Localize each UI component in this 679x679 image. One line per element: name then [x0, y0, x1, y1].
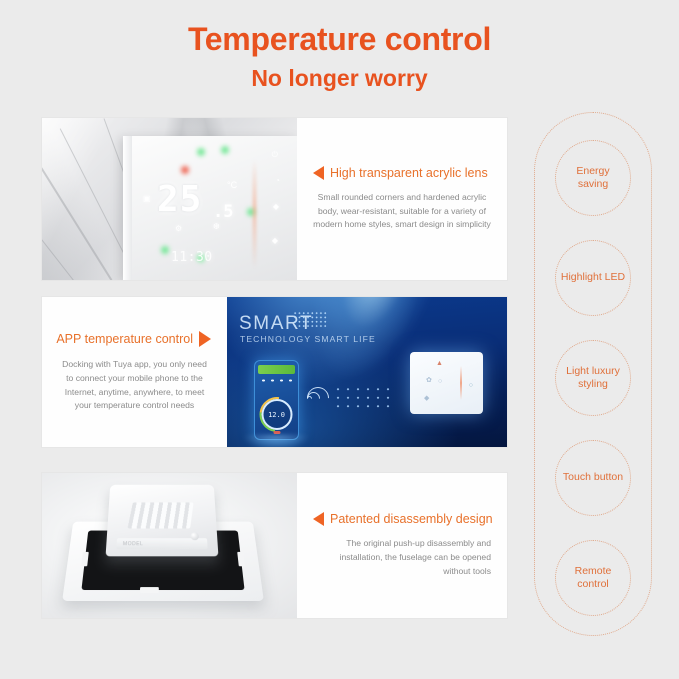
page-header: Temperature control No longer worry	[0, 0, 679, 91]
thermostat-device: ▣ ⚙ ❆ ⏻ ◔ ◆ ◆ 25 .5 °C 11:30	[123, 136, 297, 280]
phone-app-icons	[259, 377, 294, 384]
feature-body: Docking with Tuya app, you only need to …	[58, 358, 211, 414]
sidebar-feature-highlight-led[interactable]: Highlight LED	[555, 240, 631, 316]
frame-notch	[140, 587, 159, 593]
thermostat-screen: ▣ ⚙ ❆ ⏻ ◔ ◆ ◆ 25 .5 °C 11:30	[135, 142, 290, 274]
module-heat-fins	[127, 502, 193, 528]
heating-strip-glow	[253, 160, 256, 268]
feature-panel-disassembly: MODEL Patented disassembly design The or…	[42, 473, 507, 618]
feature-text-disassembly: Patented disassembly design The original…	[297, 473, 507, 618]
banner-dot-pattern	[293, 311, 327, 327]
wifi-icon: ◔	[275, 176, 280, 185]
drop-icon: ◆	[424, 394, 429, 402]
led-indicator-green	[161, 246, 169, 254]
feature-sidebar: Energy saving Highlight LED Light luxury…	[534, 112, 652, 636]
sidebar-feature-label: Touch button	[559, 471, 627, 484]
unit-accent-strip	[460, 366, 462, 400]
feature-heading: APP temperature control	[56, 332, 193, 346]
led-indicator-red	[181, 166, 189, 174]
mode-icon: ▣	[143, 194, 151, 203]
triangle-left-icon	[313, 166, 324, 180]
sidebar-feature-energy-saving[interactable]: Energy saving	[555, 140, 631, 216]
feature-heading-row: Patented disassembly design	[313, 512, 491, 526]
sidebar-feature-label: Energy saving	[556, 165, 630, 192]
banner-subtitle: TECHNOLOGY SMART LIFE	[240, 334, 376, 344]
internal-module: MODEL	[106, 485, 219, 557]
heart-icon: ◆	[272, 236, 278, 245]
fan-icon: ❆	[213, 222, 220, 231]
page-subtitle: No longer worry	[0, 66, 679, 91]
temperature-value: 25	[157, 182, 202, 218]
feature-panel-app-control: APP temperature control Docking with Tuy…	[42, 297, 507, 447]
wifi-signal-icon	[307, 385, 327, 411]
leaf-icon: ✿	[426, 376, 432, 384]
feature-heading: High transparent acrylic lens	[330, 166, 488, 180]
temperature-unit: °C	[227, 180, 237, 190]
page-title: Temperature control	[0, 22, 679, 57]
phone-status-bar	[258, 365, 295, 374]
sidebar-feature-label: Remote control	[556, 565, 630, 592]
data-stream-dots	[333, 385, 393, 411]
temperature-decimal: .5	[213, 204, 233, 221]
frame-notch	[81, 552, 89, 566]
sidebar-feature-light-luxury-styling[interactable]: Light luxury styling	[555, 340, 631, 416]
sidebar-feature-touch-button[interactable]: Touch button	[555, 440, 631, 516]
power-icon[interactable]: ⏻	[272, 150, 278, 160]
dial-icon: ○	[438, 378, 442, 385]
droplet-icon: ◆	[273, 202, 279, 211]
sidebar-feature-label: Highlight LED	[557, 271, 629, 284]
feature-heading-row: APP temperature control	[58, 331, 211, 347]
feature-text-acrylic-lens: High transparent acrylic lens Small roun…	[297, 118, 507, 280]
power-icon: ○	[469, 382, 473, 389]
phone-reflection-glow	[243, 435, 309, 447]
clock-readout: 11:30	[171, 250, 213, 265]
marble-vein	[42, 214, 96, 280]
product-photo-disassembly: MODEL	[42, 473, 297, 618]
screw-icon	[190, 532, 198, 540]
feature-panel-acrylic-lens: ▣ ⚙ ❆ ⏻ ◔ ◆ ◆ 25 .5 °C 11:30 High transp…	[42, 118, 507, 280]
feature-body: The original push-up disassembly and ins…	[313, 537, 491, 579]
phone-home-button	[273, 431, 280, 434]
sidebar-feature-label: Light luxury styling	[556, 365, 630, 392]
sidebar-feature-remote-control[interactable]: Remote control	[555, 540, 631, 616]
led-indicator-green	[221, 146, 229, 154]
product-photo-thermostat-on-marble: ▣ ⚙ ❆ ⏻ ◔ ◆ ◆ 25 .5 °C 11:30	[42, 118, 297, 280]
device-side-edge	[123, 136, 132, 280]
triangle-left-icon	[313, 512, 324, 526]
feature-text-app-control: APP temperature control Docking with Tuy…	[42, 297, 227, 447]
feature-heading-row: High transparent acrylic lens	[313, 166, 491, 180]
feature-body: Small rounded corners and hardened acryl…	[313, 191, 491, 233]
led-indicator-green	[197, 148, 205, 156]
thermostat-panel-render: ▲ ✿ ○ ◆ ○	[410, 352, 483, 414]
product-photo-smart-connectivity: SMART TECHNOLOGY SMART LIFE 12.0 ▲ ✿ ○ ◆…	[227, 297, 507, 447]
marble-vein	[42, 152, 112, 280]
flame-icon: ▲	[436, 360, 443, 367]
triangle-right-icon	[199, 331, 211, 347]
wifi-arc	[302, 382, 333, 413]
module-label: MODEL	[123, 541, 144, 547]
gear-icon: ⚙	[175, 224, 182, 233]
feature-heading: Patented disassembly design	[330, 512, 493, 526]
smartphone-mockup: 12.0	[254, 360, 299, 440]
frame-notch	[237, 552, 245, 566]
